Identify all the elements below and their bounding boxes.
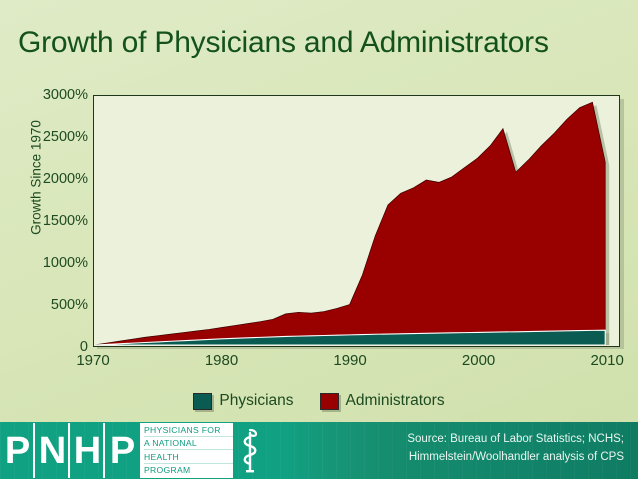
- x-tick-label: 1980: [205, 352, 238, 369]
- y-tick-label: 500%: [18, 297, 88, 313]
- x-tick-label: 1990: [333, 352, 366, 369]
- pnhp-letters: P N H P: [0, 422, 140, 479]
- pnhp-letter: N: [35, 422, 70, 479]
- legend-entry-physicians: Physicians: [193, 392, 293, 410]
- x-tick-label: 2010: [590, 352, 623, 369]
- pnhp-logo: P N H P PHYSICIANS FOR A NATIONAL HEALTH…: [0, 422, 267, 479]
- x-tick-label: 2000: [462, 352, 495, 369]
- slide-root: Growth of Physicians and Administrators …: [0, 0, 638, 479]
- pnhp-tagline-line: HEALTH: [144, 453, 233, 464]
- source-citation: Source: Bureau of Labor Statistics; NCHS…: [407, 431, 624, 467]
- source-line-2: Himmelstein/Woolhandler analysis of CPS: [407, 449, 624, 467]
- y-axis-tick-labels: 0 500% 1000% 1500% 2000% 2500% 3000%: [18, 95, 88, 347]
- chart-plot-area: [93, 95, 620, 347]
- source-line-1: Source: Bureau of Labor Statistics; NCHS…: [407, 431, 624, 449]
- legend-entry-administrators: Administrators: [320, 392, 445, 410]
- pnhp-letter: P: [105, 422, 140, 479]
- y-tick-label: 2000%: [18, 171, 88, 187]
- pnhp-tagline-line: A NATIONAL: [144, 439, 233, 450]
- y-tick-label: 1500%: [18, 213, 88, 229]
- legend-swatch-administrators: [320, 393, 339, 410]
- area-chart-svg: [94, 96, 618, 345]
- y-tick-label: 2500%: [18, 129, 88, 145]
- pnhp-letter: P: [0, 422, 35, 479]
- legend-label-physicians: Physicians: [219, 392, 293, 410]
- pnhp-tagline-box: PHYSICIANS FOR A NATIONAL HEALTH PROGRAM: [140, 423, 233, 478]
- legend-swatch-physicians: [193, 393, 212, 410]
- y-tick-label: 3000%: [18, 87, 88, 103]
- page-title: Growth of Physicians and Administrators: [18, 26, 549, 60]
- pnhp-tagline-line: PHYSICIANS FOR: [144, 426, 233, 437]
- y-tick-label: 1000%: [18, 255, 88, 271]
- pnhp-tagline-line: PROGRAM: [144, 466, 233, 476]
- footer-bar: P N H P PHYSICIANS FOR A NATIONAL HEALTH…: [0, 422, 638, 479]
- legend-label-administrators: Administrators: [346, 392, 445, 410]
- pnhp-letter: H: [70, 422, 105, 479]
- x-tick-label: 1970: [76, 352, 109, 369]
- caduceus-icon: [233, 422, 267, 479]
- x-axis-tick-labels: 1970 1980 1990 2000 2010: [93, 352, 620, 374]
- series-administrators: [94, 102, 605, 345]
- chart-legend: Physicians Administrators: [0, 392, 638, 410]
